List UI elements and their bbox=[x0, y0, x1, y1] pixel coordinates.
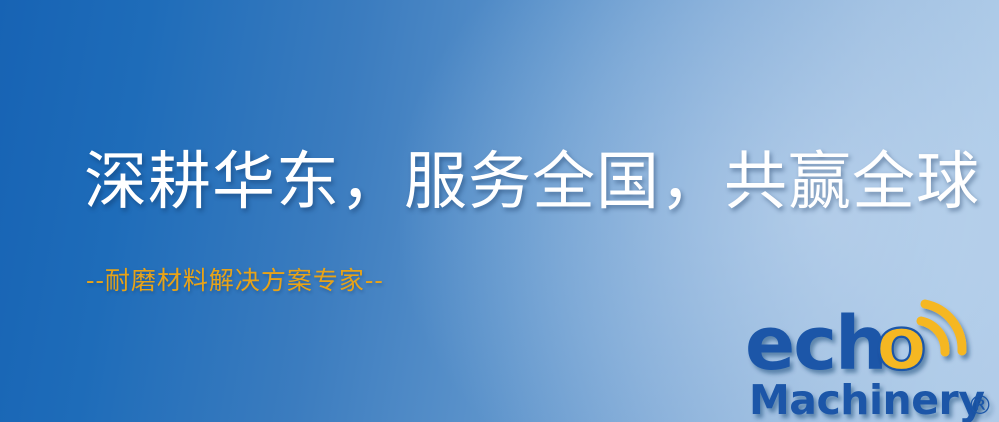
banner-subtitle: --耐磨材料解决方案专家-- bbox=[86, 268, 384, 293]
logo-wordmark-blue: ech bbox=[745, 301, 886, 387]
logo-wordmark-gold: o bbox=[876, 301, 927, 387]
logo-tagline: Machinery bbox=[749, 376, 984, 422]
signal-waves-icon bbox=[921, 304, 962, 352]
echo-machinery-logo[interactable]: ech o Machinery ® bbox=[745, 296, 999, 422]
registered-trademark-icon: ® bbox=[967, 391, 993, 421]
hero-banner: 深耕华东，服务全国，共赢全球 --耐磨材料解决方案专家-- ech o Mach… bbox=[0, 0, 999, 422]
banner-headline: 深耕华东，服务全国，共赢全球 bbox=[84, 150, 980, 213]
